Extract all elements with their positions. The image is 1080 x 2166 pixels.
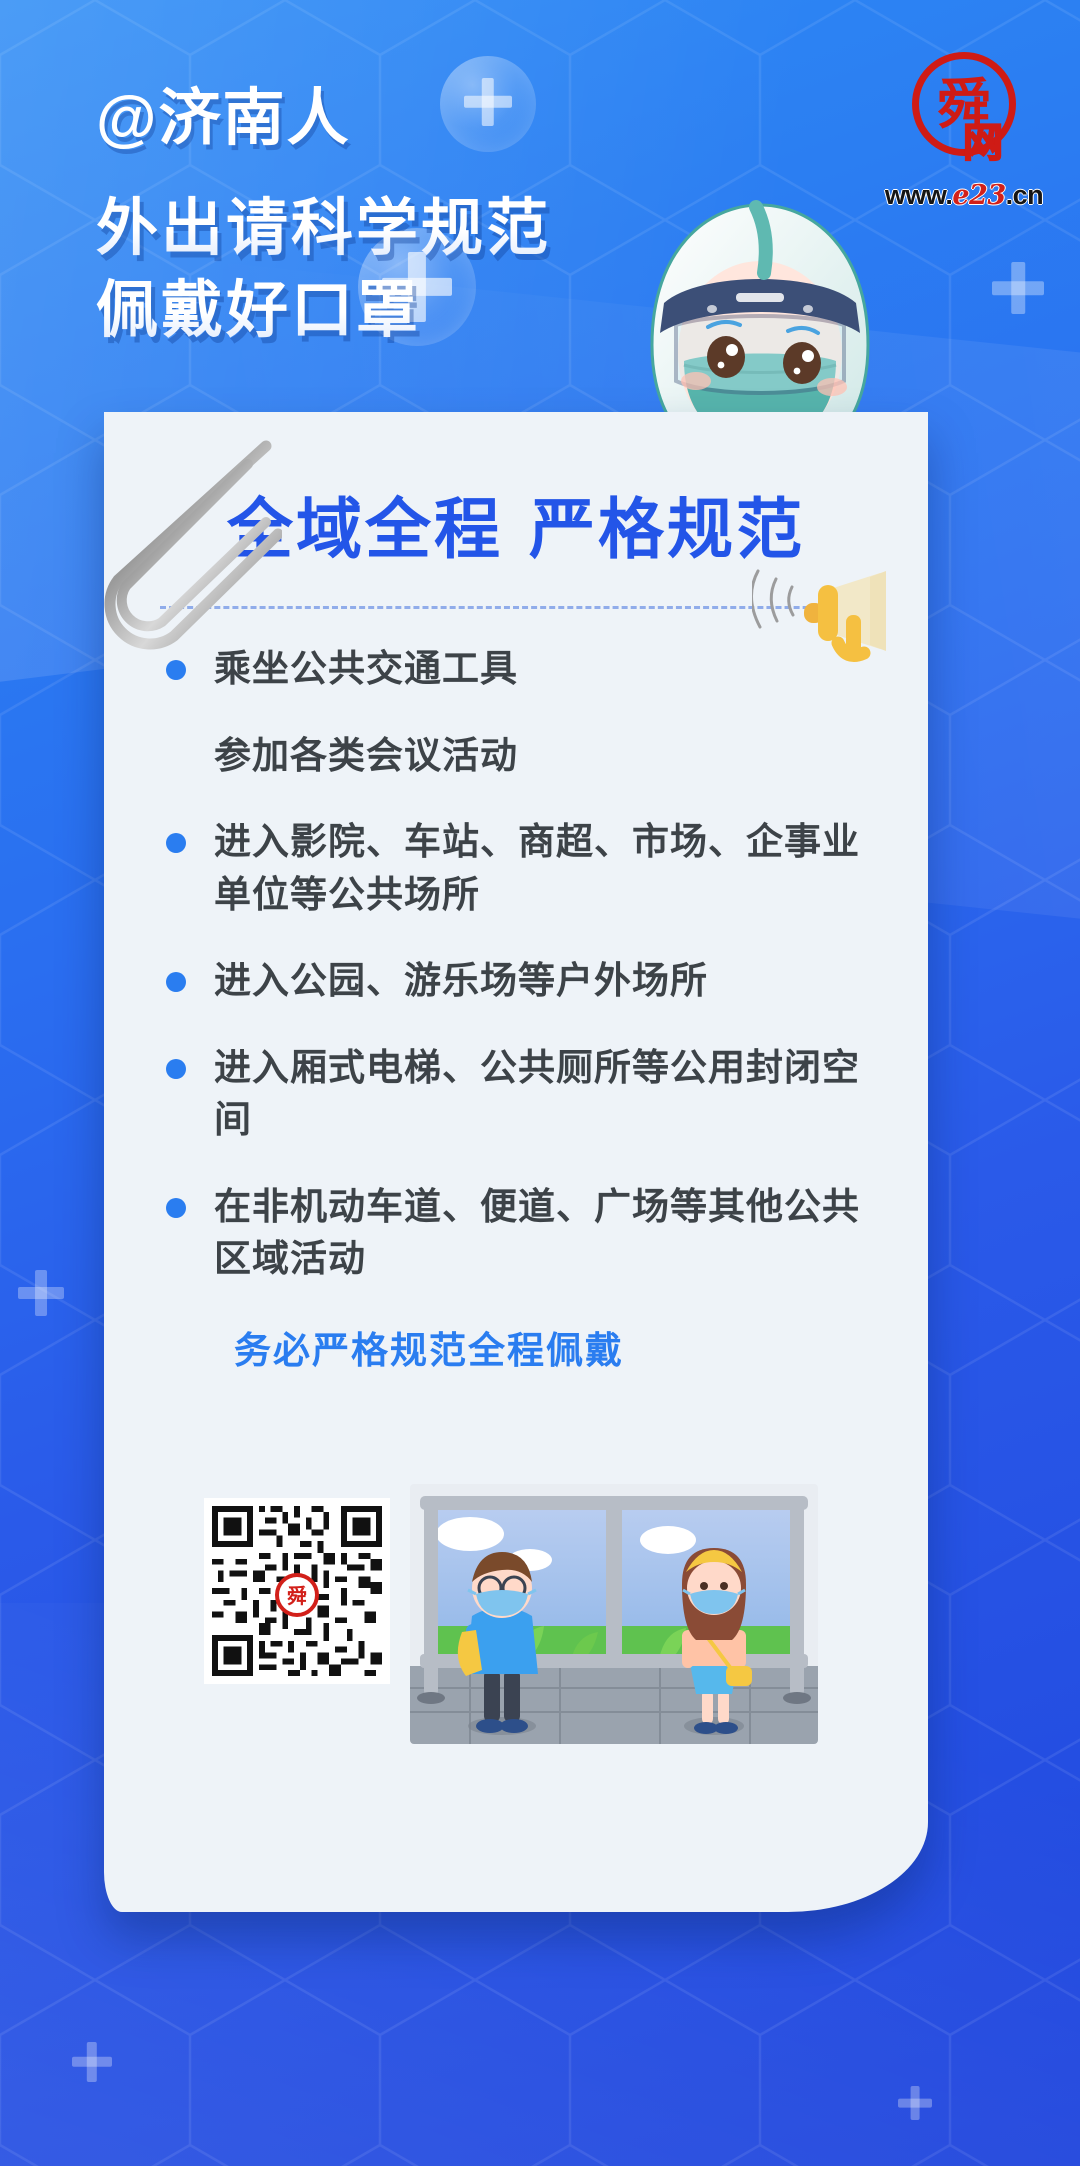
megaphone-icon	[752, 561, 902, 665]
bus-stop-illustration	[410, 1484, 818, 1744]
url-suffix: .cn	[1006, 180, 1044, 210]
site-logo[interactable]: 舜 网 www.e23.cn	[870, 52, 1058, 211]
list-item: 参加各类会议活动	[166, 730, 866, 783]
list-item-text: 进入影院、车站、商超、市场、企事业单位等公共场所	[214, 816, 866, 921]
logo-url: www.e23.cn	[870, 180, 1058, 211]
bullet-dot	[166, 1059, 186, 1079]
list-item-text: 在非机动车道、便道、广场等其他公共区域活动	[214, 1181, 866, 1286]
qr-code[interactable]: 舜	[204, 1498, 390, 1684]
list-item-text: 进入公园、游乐场等户外场所	[214, 955, 708, 1008]
headline-at-line: @济南人	[96, 88, 716, 150]
emphasis-text: 务必严格规范全程佩戴	[234, 1320, 866, 1374]
url-brand: e23	[952, 180, 1005, 211]
paperclip-icon	[52, 434, 282, 664]
url-prefix: www.	[885, 180, 953, 210]
card-media-row: 舜	[104, 1498, 928, 1744]
plus-icon-5	[72, 2042, 112, 2082]
plus-icon-3	[992, 262, 1044, 314]
plus-icon-4	[18, 1270, 64, 1316]
list-item: 在非机动车道、便道、广场等其他公共区域活动	[166, 1181, 866, 1286]
content-card: 全域全程 严格规范 乘坐公共交通工具	[104, 412, 928, 1912]
bullet-dot	[166, 972, 186, 992]
headline-main: 外出请科学规范 佩戴好口罩	[96, 188, 716, 352]
list-item: 进入厢式电梯、公共厕所等公用封闭空间	[166, 1042, 866, 1147]
qr-center-seal-icon: 舜	[275, 1573, 319, 1617]
list-item-text: 参加各类会议活动	[214, 730, 518, 783]
shun-seal-icon: 舜 网	[912, 52, 1016, 156]
headline-line-1: 外出请科学规范	[96, 188, 716, 270]
headline-block: @济南人 外出请科学规范 佩戴好口罩	[96, 88, 716, 352]
requirement-list: 乘坐公共交通工具 参加各类会议活动 进入影院、车站、商超、市场、企事业单位等公共…	[166, 643, 866, 1374]
bullet-spacer	[166, 747, 186, 767]
list-item-text: 进入厢式电梯、公共厕所等公用封闭空间	[214, 1042, 866, 1147]
list-item: 进入影院、车站、商超、市场、企事业单位等公共场所	[166, 816, 866, 921]
poster-root: @济南人 外出请科学规范 佩戴好口罩 舜 网 www.e23.cn	[0, 0, 1080, 2166]
list-item: 进入公园、游乐场等户外场所	[166, 955, 866, 1008]
headline-line-2: 佩戴好口罩	[96, 270, 716, 352]
bullet-dot	[166, 1198, 186, 1218]
plus-icon-6	[898, 2086, 932, 2120]
bullet-dot	[166, 833, 186, 853]
seal-net-character: 网	[963, 123, 1003, 163]
